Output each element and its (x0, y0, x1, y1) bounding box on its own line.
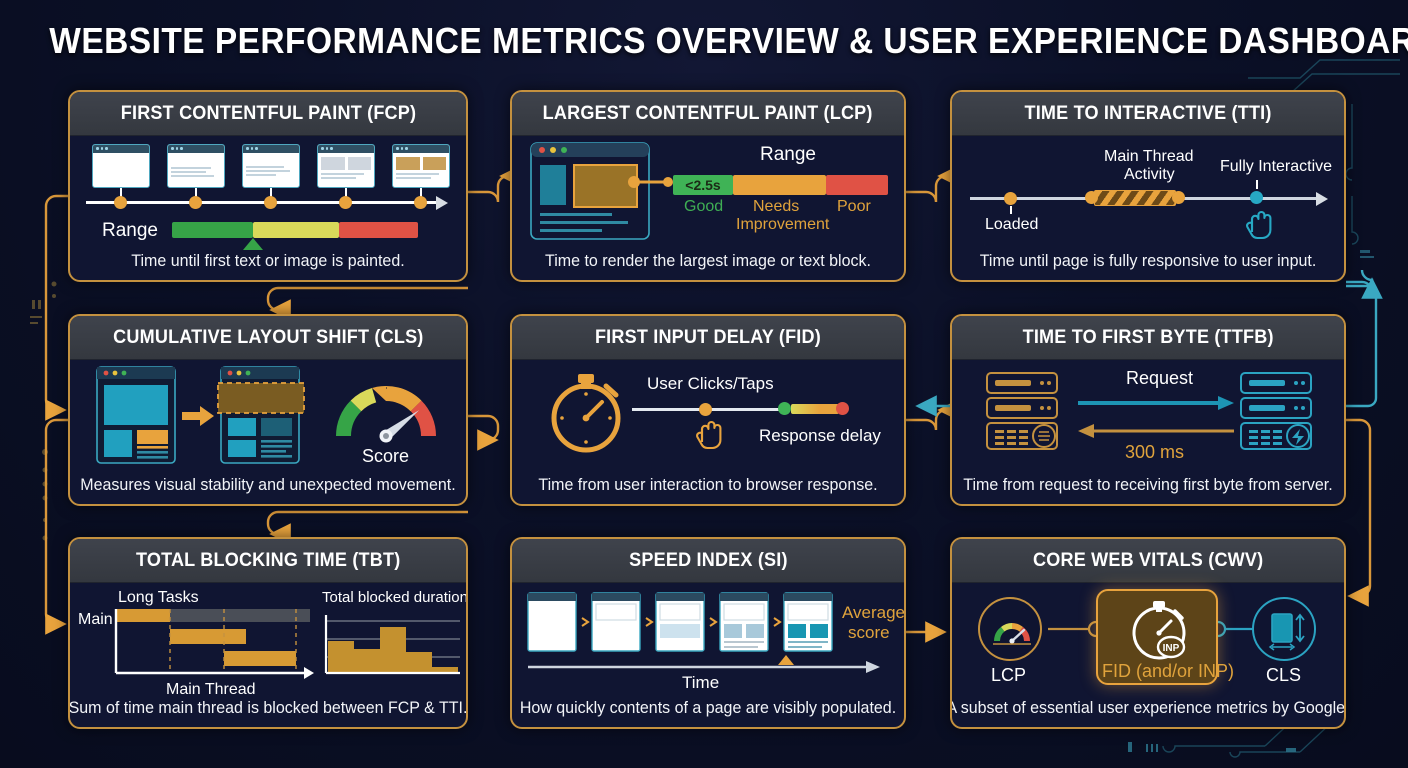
si-time-axis (528, 661, 880, 673)
card-si-header: SPEED INDEX (SI) (512, 539, 904, 583)
timeline-dot (414, 196, 427, 209)
card-tbt-body: Long Tasks Main Main Thread Total blocke… (70, 583, 466, 693)
lcp-good-label: Good (684, 198, 723, 216)
si-filmstrip (526, 591, 832, 655)
card-cwv-title: CORE WEB VITALS (CWV) (1033, 550, 1263, 572)
fid-response-end-dot (836, 402, 849, 415)
cwv-node-fid-label: FID (and/or INP) (1102, 661, 1234, 682)
fid-click-dot (699, 403, 712, 416)
fid-response-start-dot (778, 402, 791, 415)
cls-score-label: Score (362, 446, 409, 467)
tti-activity-start-dot (1085, 191, 1098, 204)
browser-thumb-4 (317, 144, 375, 188)
page-title: WEBSITE PERFORMANCE METRICS OVERVIEW & U… (49, 20, 1358, 62)
timeline-dot (189, 196, 202, 209)
fcp-range-label: Range (102, 220, 158, 242)
stopwatch-inp-icon: INP (1127, 599, 1191, 661)
card-lcp-body: Range <2.5s Good Needs Improvement Poor (512, 136, 904, 246)
tbt-total-blocked-chart (322, 611, 462, 681)
inp-badge-text: INP (1163, 643, 1180, 654)
si-average-label-line1: Average (842, 603, 905, 623)
tbt-long-tasks-chart (114, 607, 314, 681)
fid-response-delay-label: Response delay (759, 426, 881, 446)
card-fcp-caption: Time until first text or image is painte… (76, 242, 460, 280)
lcp-needs-label-line2: Improvement (736, 216, 829, 234)
card-cls-title: CUMULATIVE LAYOUT SHIFT (CLS) (113, 327, 423, 349)
card-cls-caption: Measures visual stability and unexpected… (76, 466, 460, 504)
fcp-range-poor (339, 222, 418, 238)
cwv-node-lcp-label: LCP (991, 665, 1026, 686)
origin-server-icon (1240, 372, 1318, 450)
dashboard-canvas: WEBSITE PERFORMANCE METRICS OVERVIEW & U… (0, 0, 1408, 768)
card-tbt-header: TOTAL BLOCKING TIME (TBT) (70, 539, 466, 583)
card-lcp-header: LARGEST CONTENTFUL PAINT (LCP) (512, 92, 904, 136)
ttfb-request-arrow-icon (1078, 396, 1234, 410)
card-fcp-title: FIRST CONTENTFUL PAINT (FCP) (120, 103, 415, 125)
fid-user-clicks-label: User Clicks/Taps (647, 374, 774, 394)
card-ttfb-title: TIME TO FIRST BYTE (TTFB) (1022, 327, 1273, 349)
tti-fully-interactive-dot (1250, 191, 1263, 204)
card-fid[interactable]: FIRST INPUT DELAY (FID) User Clicks/Taps (510, 314, 906, 506)
card-si-title: SPEED INDEX (SI) (629, 550, 788, 572)
tti-activity-end-dot (1172, 191, 1185, 204)
si-average-label-line2: score (848, 623, 890, 643)
fid-response-delay-bar (791, 404, 839, 414)
tbt-main-label: Main (78, 611, 113, 629)
card-cwv-header: CORE WEB VITALS (CWV) (952, 539, 1344, 583)
cwv-node-cls-label: CLS (1266, 665, 1301, 686)
card-tbt-caption: Sum of time main thread is blocked betwe… (76, 689, 460, 727)
tti-main-thread-activity-bar (1094, 190, 1176, 206)
card-fcp-body: Range (70, 136, 466, 246)
card-cls-header: CUMULATIVE LAYOUT SHIFT (CLS) (70, 316, 466, 360)
card-si-body: Average score Time (512, 583, 904, 693)
lcp-browser-mockup-icon (530, 142, 650, 240)
card-tti-caption: Time until page is fully responsive to u… (958, 242, 1338, 280)
cwv-node-cls[interactable] (1252, 597, 1316, 661)
stopwatch-icon (546, 368, 626, 454)
card-ttfb-caption: Time from request to receiving first byt… (958, 466, 1338, 504)
browser-thumb-3 (242, 144, 300, 188)
card-fid-title: FIRST INPUT DELAY (FID) (595, 327, 821, 349)
card-cls-body: Score (70, 360, 466, 470)
browser-thumb-5 (392, 144, 450, 188)
client-server-icon (986, 372, 1064, 450)
lcp-range-poor (826, 175, 888, 195)
tti-main-thread-label-line2: Activity (1124, 166, 1175, 184)
card-ttfb[interactable]: TIME TO FIRST BYTE (TTFB) Request (950, 314, 1346, 506)
ttfb-request-label: Request (1126, 368, 1193, 389)
lcp-good-threshold: <2.5s (685, 177, 720, 193)
lcp-range-label: Range (760, 144, 816, 166)
lcp-needs-label-line1: Needs (753, 198, 799, 216)
card-tti-header: TIME TO INTERACTIVE (TTI) (952, 92, 1344, 136)
cwv-node-lcp[interactable] (978, 597, 1042, 661)
card-lcp[interactable]: LARGEST CONTENTFUL PAINT (LCP) Range <2.… (510, 90, 906, 282)
lcp-range-needs-improvement (733, 175, 826, 195)
card-ttfb-body: Request 300 ms (952, 360, 1344, 470)
lcp-connector-icon (630, 174, 674, 190)
tti-loaded-label: Loaded (985, 216, 1038, 234)
card-cwv[interactable]: CORE WEB VITALS (CWV) (950, 537, 1346, 729)
card-cwv-body: LCP INP FID (and/or INP) (952, 583, 1344, 693)
card-fid-body: User Clicks/Taps Response delay (512, 360, 904, 470)
tbt-long-tasks-label: Long Tasks (118, 589, 199, 607)
tti-fully-interactive-label: Fully Interactive (1220, 158, 1332, 176)
card-si-caption: How quickly contents of a page are visib… (518, 689, 898, 727)
tbt-total-blocked-label: Total blocked duration (322, 589, 468, 606)
cls-shift-arrow-icon (182, 406, 214, 426)
tti-interactive-stem (1256, 180, 1258, 189)
tti-timeline-arrow-icon (1316, 192, 1328, 206)
card-si[interactable]: SPEED INDEX (SI) (510, 537, 906, 729)
gauge-icon (990, 615, 1034, 645)
layout-shift-icon (1270, 612, 1306, 652)
card-tti-body: Main Thread Activity Fully Interactive L… (952, 136, 1344, 246)
timeline-dot (264, 196, 277, 209)
card-lcp-title: LARGEST CONTENTFUL PAINT (LCP) (543, 103, 873, 125)
card-tti[interactable]: TIME TO INTERACTIVE (TTI) Main Thread Ac… (950, 90, 1346, 282)
timeline-arrow-icon (436, 196, 448, 210)
card-cwv-caption: A subset of essential user experience me… (958, 689, 1338, 727)
browser-thumb-2 (167, 144, 225, 188)
tti-loaded-dot (1004, 192, 1017, 205)
tti-main-thread-label-line1: Main Thread (1104, 148, 1194, 166)
fcp-range-needs-improvement (253, 222, 339, 238)
cursor-hand-icon (694, 416, 722, 450)
lcp-poor-label: Poor (837, 198, 871, 216)
tti-loaded-stem (1010, 206, 1012, 214)
card-lcp-caption: Time to render the largest image or text… (518, 242, 898, 280)
fcp-range-good (172, 222, 253, 238)
timeline-axis (86, 201, 438, 204)
card-fcp[interactable]: FIRST CONTENTFUL PAINT (FCP) (68, 90, 468, 282)
card-tbt-title: TOTAL BLOCKING TIME (TBT) (136, 550, 400, 572)
cls-layout-after-icon (220, 366, 300, 464)
card-tti-title: TIME TO INTERACTIVE (TTI) (1024, 103, 1271, 125)
card-cls[interactable]: CUMULATIVE LAYOUT SHIFT (CLS) (68, 314, 468, 506)
browser-thumb-1 (92, 144, 150, 188)
timeline-dot (114, 196, 127, 209)
timeline-dot (339, 196, 352, 209)
card-tbt[interactable]: TOTAL BLOCKING TIME (TBT) Long Tasks Mai… (68, 537, 468, 729)
card-fcp-header: FIRST CONTENTFUL PAINT (FCP) (70, 92, 466, 136)
ttfb-response-arrow-icon (1078, 424, 1234, 438)
card-ttfb-header: TIME TO FIRST BYTE (TTFB) (952, 316, 1344, 360)
cls-score-gauge-icon (326, 374, 446, 446)
card-fid-caption: Time from user interaction to browser re… (518, 466, 898, 504)
lcp-range-good: <2.5s (673, 175, 733, 195)
cursor-hand-icon (1244, 206, 1272, 240)
cls-layout-before-icon (96, 366, 176, 464)
ttfb-latency-label: 300 ms (1125, 442, 1184, 463)
card-fid-header: FIRST INPUT DELAY (FID) (512, 316, 904, 360)
